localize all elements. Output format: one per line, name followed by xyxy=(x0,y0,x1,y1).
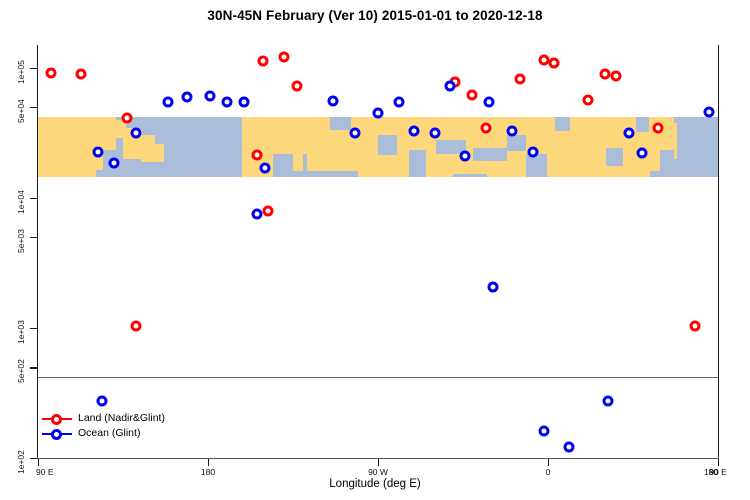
legend-item-land[interactable]: Land (Nadir&Glint) xyxy=(42,411,165,426)
data-point-ocean[interactable] xyxy=(393,97,404,108)
map-sea xyxy=(660,150,674,177)
data-point-land[interactable] xyxy=(291,80,302,91)
data-point-land[interactable] xyxy=(652,122,663,133)
data-point-land[interactable] xyxy=(252,149,263,160)
map-sea xyxy=(526,154,546,177)
data-point-ocean[interactable] xyxy=(350,128,361,139)
data-point-ocean[interactable] xyxy=(444,81,455,92)
y-axis-tick xyxy=(30,367,38,368)
data-point-ocean[interactable] xyxy=(182,91,193,102)
x-axis-tick xyxy=(208,459,209,466)
data-point-ocean[interactable] xyxy=(527,147,538,158)
y-axis-tick xyxy=(30,328,38,329)
data-point-ocean[interactable] xyxy=(429,128,440,139)
map-sea xyxy=(378,135,397,155)
data-point-ocean[interactable] xyxy=(163,96,174,107)
x-axis-tick xyxy=(378,459,379,466)
legend-label-ocean: Ocean (Glint) xyxy=(78,426,140,441)
x-axis-tick-label: 0 xyxy=(546,467,551,477)
map-sea xyxy=(606,148,624,166)
map-sea xyxy=(273,154,293,177)
x-axis-tick xyxy=(718,459,719,466)
map-landmass xyxy=(38,117,96,177)
x-axis-tick-label: 180 xyxy=(201,467,215,477)
y-axis-tick xyxy=(30,68,38,69)
data-point-ocean[interactable] xyxy=(539,426,550,437)
legend: Land (Nadir&Glint) Ocean (Glint) xyxy=(42,411,165,441)
data-point-land[interactable] xyxy=(263,206,274,217)
y-axis-tick-label: 1e+02 xyxy=(16,450,26,474)
y-axis-tick-label: 1e+03 xyxy=(16,320,26,344)
data-point-ocean[interactable] xyxy=(108,158,119,169)
legend-item-ocean[interactable]: Ocean (Glint) xyxy=(42,426,165,441)
x-axis-tick-label: 180 xyxy=(704,467,718,477)
y-axis-tick-label: 5e+02 xyxy=(16,359,26,383)
data-point-ocean[interactable] xyxy=(703,106,714,117)
data-point-ocean[interactable] xyxy=(624,128,635,139)
data-point-ocean[interactable] xyxy=(603,395,614,406)
y-axis-tick xyxy=(30,107,38,108)
y-axis-tick xyxy=(30,237,38,238)
map-sea xyxy=(507,135,526,151)
legend-marker-ocean-icon xyxy=(42,428,72,440)
data-point-land[interactable] xyxy=(121,113,132,124)
y-axis-tick-label: 5e+04 xyxy=(16,99,26,123)
data-point-ocean[interactable] xyxy=(563,441,574,452)
y-axis-tick-label: 1e+05 xyxy=(16,60,26,84)
map-sea xyxy=(330,117,350,130)
data-point-ocean[interactable] xyxy=(488,282,499,293)
chart-title: 30N-45N February (Ver 10) 2015-01-01 to … xyxy=(0,8,750,23)
map-sea xyxy=(409,150,427,177)
data-point-ocean[interactable] xyxy=(238,97,249,108)
data-point-land[interactable] xyxy=(46,67,57,78)
x-axis-tick-label: 90 E xyxy=(36,467,54,477)
map-sea xyxy=(636,117,648,133)
data-point-land[interactable] xyxy=(599,69,610,80)
map-sea xyxy=(473,148,507,161)
map-landmass xyxy=(154,144,165,162)
x-axis-title: Longitude (deg E) xyxy=(0,478,750,490)
x-axis-tick xyxy=(548,459,549,466)
y-axis-tick-label: 5e+03 xyxy=(16,229,26,253)
data-point-land[interactable] xyxy=(690,320,701,331)
data-point-land[interactable] xyxy=(278,52,289,63)
data-point-ocean[interactable] xyxy=(484,96,495,107)
data-point-ocean[interactable] xyxy=(97,395,108,406)
data-point-land[interactable] xyxy=(257,55,268,66)
map-band xyxy=(38,117,718,177)
data-point-ocean[interactable] xyxy=(459,151,470,162)
data-point-ocean[interactable] xyxy=(408,126,419,137)
y-axis-tick xyxy=(30,198,38,199)
data-point-land[interactable] xyxy=(582,94,593,105)
data-point-land[interactable] xyxy=(76,69,87,80)
map-sea xyxy=(555,117,570,131)
legend-label-land: Land (Nadir&Glint) xyxy=(78,411,165,426)
data-point-ocean[interactable] xyxy=(259,162,270,173)
data-point-ocean[interactable] xyxy=(327,95,338,106)
data-point-land[interactable] xyxy=(131,320,142,331)
data-point-ocean[interactable] xyxy=(131,128,142,139)
x-axis-tick-label: 90 W xyxy=(368,467,388,477)
data-point-ocean[interactable] xyxy=(373,107,384,118)
plot-area xyxy=(38,45,718,458)
data-point-ocean[interactable] xyxy=(221,96,232,107)
data-point-land[interactable] xyxy=(467,89,478,100)
data-point-land[interactable] xyxy=(548,57,559,68)
data-point-ocean[interactable] xyxy=(204,90,215,101)
chart-root: 30N-45N February (Ver 10) 2015-01-01 to … xyxy=(0,0,750,500)
data-point-land[interactable] xyxy=(611,71,622,82)
data-point-ocean[interactable] xyxy=(252,209,263,220)
x-axis-tick xyxy=(38,459,39,466)
legend-marker-land-icon xyxy=(42,413,72,425)
data-point-land[interactable] xyxy=(514,74,525,85)
y-axis-tick-label: 1e+04 xyxy=(16,190,26,214)
y-axis-tick xyxy=(30,458,38,459)
data-point-land[interactable] xyxy=(480,122,491,133)
data-point-ocean[interactable] xyxy=(507,126,518,137)
map-sea xyxy=(149,117,163,134)
data-point-ocean[interactable] xyxy=(637,148,648,159)
data-point-ocean[interactable] xyxy=(93,147,104,158)
reference-line xyxy=(38,377,718,378)
